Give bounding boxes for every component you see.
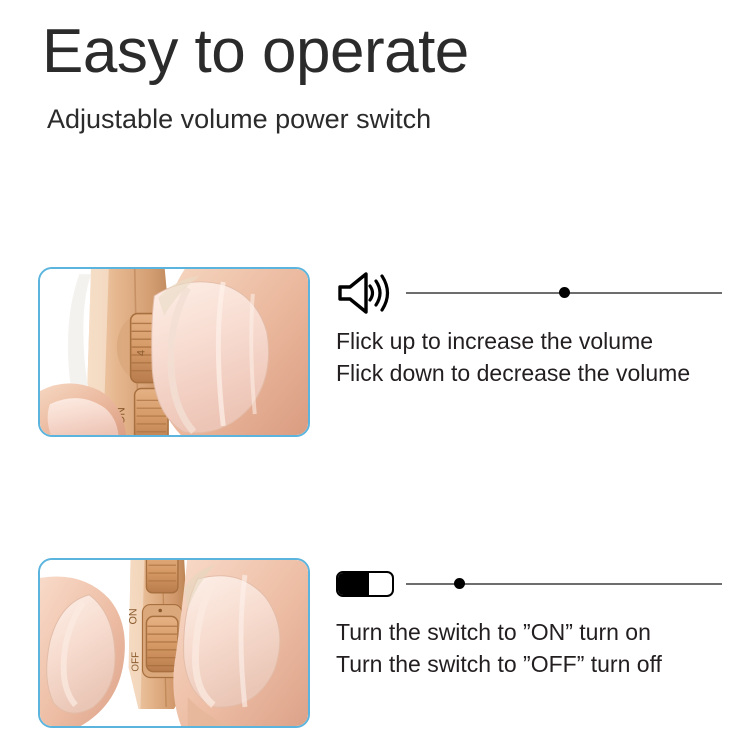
page-title: Easy to operate [42,16,722,88]
feature-volume-body: Flick up to increase the volume Flick do… [336,267,736,389]
volume-caption: Flick up to increase the volume Flick do… [336,325,736,389]
product-photo-volume: 4 ON [38,267,310,437]
header: Easy to operate Adjustable volume power … [42,16,722,136]
power-caption-line-1: Turn the switch to ”ON” turn on [336,616,736,648]
volume-caption-line-1: Flick up to increase the volume [336,325,736,357]
volume-slider[interactable] [406,283,722,303]
product-photo-power: 4 ON OFF [38,558,310,728]
toggle-switch-glyph [336,571,394,597]
page-subtitle: Adjustable volume power switch [47,102,722,136]
power-control-row [336,558,736,610]
hearing-aid-power-photo: 4 ON OFF [40,560,308,726]
speaker-volume-icon [336,270,396,316]
svg-text:ON: ON [128,608,140,624]
svg-text:OFF: OFF [131,652,142,672]
volume-control-row [336,267,736,319]
hearing-aid-volume-photo: 4 ON [40,269,308,435]
volume-slider-thumb[interactable] [559,287,570,298]
svg-text:4: 4 [135,350,147,356]
feature-power-body: Turn the switch to ”ON” turn on Turn the… [336,558,736,680]
volume-caption-line-2: Flick down to decrease the volume [336,357,736,389]
power-slider[interactable] [406,574,722,594]
power-slider-thumb[interactable] [454,578,465,589]
power-caption: Turn the switch to ”ON” turn on Turn the… [336,616,736,680]
power-caption-line-2: Turn the switch to ”OFF” turn off [336,648,736,680]
toggle-switch-icon [336,571,396,597]
